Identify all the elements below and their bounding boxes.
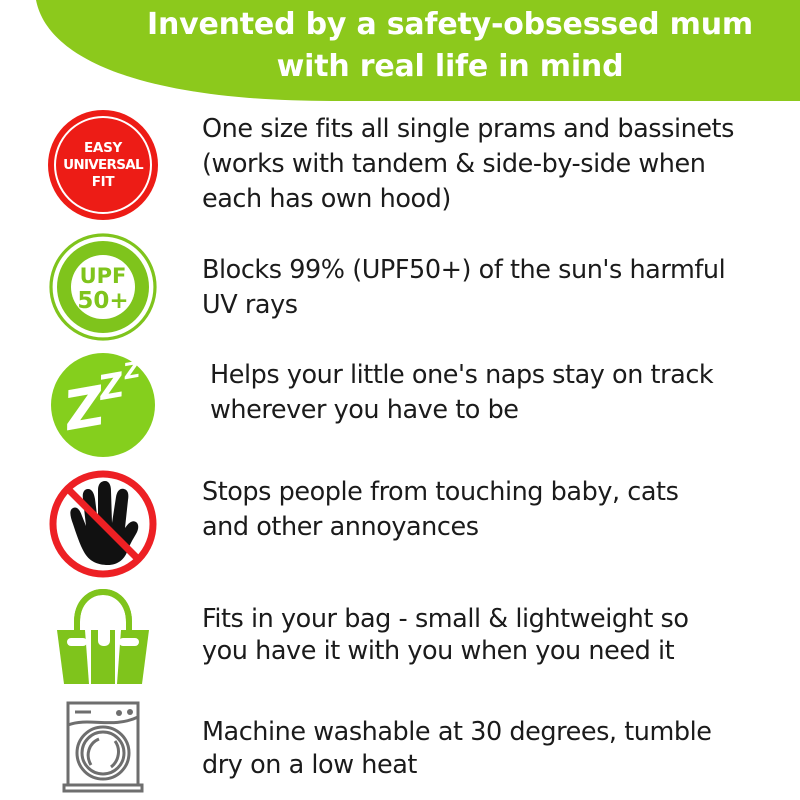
banner-title-line-2: with real life in mind bbox=[120, 46, 780, 88]
tote-bag-icon bbox=[45, 586, 161, 690]
feature-icon-sleep: Z Z Z bbox=[38, 348, 168, 462]
control-panel-divider bbox=[68, 717, 138, 725]
upf-50-plus-sun-icon: UPF 50+ bbox=[47, 231, 159, 343]
badge-line-2: UNIVERSAL bbox=[63, 157, 143, 174]
feature-text-upf: Blocks 99% (UPF50+) of the sun's harmful… bbox=[202, 253, 792, 323]
feature-text-line: each has own hood) bbox=[202, 182, 792, 217]
badge-line-3: FIT bbox=[63, 174, 143, 191]
feature-text-no-touch: Stops people from touching baby, cats an… bbox=[202, 475, 792, 545]
feature-text-bag: Fits in your bag - small & lightweight s… bbox=[202, 603, 792, 667]
feature-text-line: and other annoyances bbox=[202, 510, 792, 545]
feature-icon-bag bbox=[38, 585, 168, 691]
feature-text-line: Blocks 99% (UPF50+) of the sun's harmful bbox=[202, 253, 792, 288]
zzz-letter-small: Z bbox=[122, 358, 142, 385]
feature-text-line: One size fits all single prams and bassi… bbox=[202, 112, 792, 147]
drum-outer bbox=[77, 727, 129, 779]
easy-universal-fit-badge-icon: EASY UNIVERSAL FIT bbox=[48, 110, 158, 220]
feature-text-washing-machine: Machine washable at 30 degrees, tumble d… bbox=[202, 716, 792, 782]
upf-value-label: 50+ bbox=[77, 288, 128, 314]
banner-title: Invented by a safety-obsessed mum with r… bbox=[120, 4, 780, 88]
feature-text-line: (works with tandem & side-by-side when bbox=[202, 147, 792, 182]
feature-icon-washing-machine bbox=[38, 696, 168, 796]
badge-line-1: EASY bbox=[63, 140, 143, 157]
upf-label: UPF bbox=[80, 264, 127, 288]
washing-machine-icon bbox=[51, 697, 155, 795]
drum-highlight-2 bbox=[111, 741, 118, 767]
feature-icon-no-touch bbox=[38, 466, 168, 582]
infographic-page: Invented by a safety-obsessed mum with r… bbox=[0, 0, 800, 800]
header-banner: Invented by a safety-obsessed mum with r… bbox=[0, 0, 800, 101]
feature-icon-easy-universal-fit: EASY UNIVERSAL FIT bbox=[38, 105, 168, 225]
feature-text-line: you have it with you when you need it bbox=[202, 635, 792, 667]
feature-text-easy-universal-fit: One size fits all single prams and bassi… bbox=[202, 112, 792, 217]
no-touching-hand-icon bbox=[43, 466, 163, 582]
banner-title-line-1: Invented by a safety-obsessed mum bbox=[120, 4, 780, 46]
feature-text-line: Fits in your bag - small & lightweight s… bbox=[202, 603, 792, 635]
badge-text: EASY UNIVERSAL FIT bbox=[63, 140, 143, 191]
feature-text-line: UV rays bbox=[202, 288, 792, 323]
drum-highlight bbox=[88, 739, 99, 765]
machine-base bbox=[64, 785, 142, 791]
feature-text-line: wherever you have to be bbox=[210, 393, 800, 428]
control-knobs bbox=[116, 709, 133, 716]
sleep-zzz-icon: Z Z Z bbox=[51, 353, 155, 457]
feature-text-line: Machine washable at 30 degrees, tumble bbox=[202, 716, 792, 749]
feature-text-sleep: Helps your little one's naps stay on tra… bbox=[210, 358, 800, 428]
feature-text-line: dry on a low heat bbox=[202, 749, 792, 782]
feature-icon-upf: UPF 50+ bbox=[38, 228, 168, 346]
feature-text-line: Stops people from touching baby, cats bbox=[202, 475, 792, 510]
feature-text-line: Helps your little one's naps stay on tra… bbox=[210, 358, 800, 393]
